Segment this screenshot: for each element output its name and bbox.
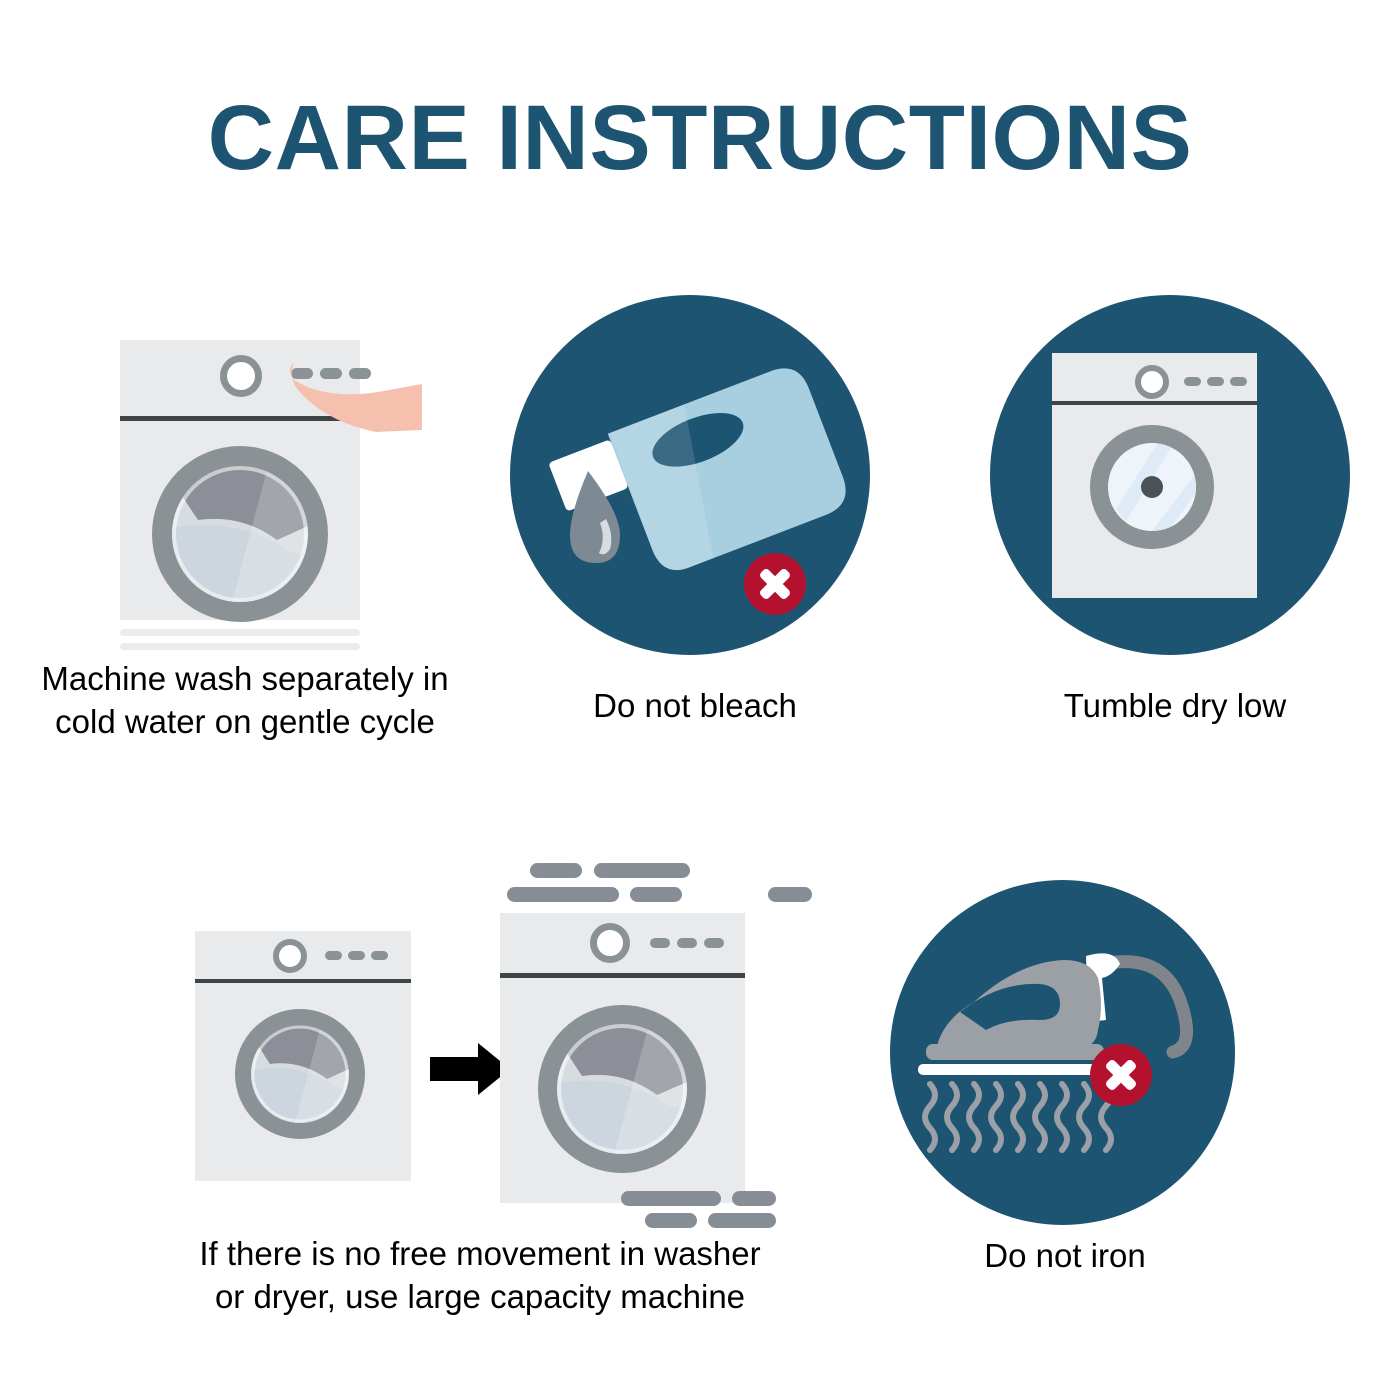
- small-washer-button-1: [325, 951, 342, 960]
- small-washer-panel-divider: [195, 979, 411, 983]
- prohibition-badge-icon: [1090, 1044, 1152, 1106]
- small-washer-door-glass: [251, 1025, 349, 1123]
- small-washer-button-2: [348, 951, 365, 960]
- care-instructions-infographic: CARE INSTRUCTIONS: [0, 0, 1400, 1400]
- large-washer-knob-icon: [590, 923, 630, 963]
- laundry-shapes-icon: [172, 466, 308, 602]
- motion-dash-top-3: [507, 887, 619, 902]
- motion-dash-top-1: [530, 863, 582, 878]
- small-washer-button-3: [371, 951, 388, 960]
- washer-base-line-2: [120, 643, 360, 650]
- laundry-shapes-icon: [557, 1024, 687, 1154]
- caption-large-capacity: If there is no free movement in washer o…: [70, 1233, 890, 1319]
- caption-line: or dryer, use large capacity machine: [70, 1276, 890, 1319]
- dryer-door-glass: [1108, 443, 1196, 531]
- small-washer-to-large-washer-icon: [100, 855, 860, 1225]
- dryer-button-1: [1184, 377, 1201, 386]
- caption-line: If there is no free movement in washer: [70, 1233, 890, 1276]
- washing-machine-with-hand-icon: [0, 300, 490, 650]
- motion-dash-top-4: [630, 887, 682, 902]
- large-washer-button-1: [650, 938, 670, 948]
- large-washer: [500, 913, 745, 1203]
- large-washer-button-3: [704, 938, 724, 948]
- large-washer-button-2: [677, 938, 697, 948]
- motion-dash-top-5: [768, 887, 812, 902]
- dryer-glass-shine-icon: [1108, 443, 1196, 531]
- motion-dash-bottom-3: [645, 1213, 697, 1228]
- large-washer-door-glass: [557, 1024, 687, 1154]
- tumble-dryer-icon: [990, 295, 1350, 655]
- washer-knob-icon: [220, 355, 262, 397]
- dryer-knob-icon: [1135, 365, 1169, 399]
- steam-iron-icon: [890, 880, 1235, 1225]
- caption-line: Machine wash separately in: [0, 658, 490, 701]
- motion-dash-bottom-1: [621, 1191, 721, 1206]
- caption-do-not-bleach: Do not bleach: [505, 685, 885, 728]
- caption-tumble-dry: Tumble dry low: [985, 685, 1365, 728]
- instruction-card-do-not-iron: Do not iron: [885, 880, 1265, 1300]
- caption-line: Do not iron: [885, 1235, 1245, 1278]
- small-washer-knob-icon: [273, 939, 307, 973]
- bleach-bottle-icon: [510, 295, 870, 655]
- motion-dash-top-2: [594, 863, 690, 878]
- instruction-card-tumble-dry: Tumble dry low: [985, 295, 1365, 735]
- instruction-card-large-capacity: If there is no free movement in washer o…: [100, 855, 860, 1315]
- instruction-card-do-not-bleach: Do not bleach: [505, 295, 885, 735]
- caption-machine-wash: Machine wash separately in cold water on…: [0, 658, 490, 744]
- right-arrow-icon: [430, 1043, 510, 1095]
- caption-do-not-iron: Do not iron: [885, 1235, 1245, 1278]
- pointing-hand-icon: [280, 356, 426, 438]
- motion-dash-bottom-4: [708, 1213, 776, 1228]
- washer-base-line-1: [120, 629, 360, 636]
- dryer-button-2: [1207, 377, 1224, 386]
- caption-line: Tumble dry low: [985, 685, 1365, 728]
- dryer-panel-divider: [1052, 401, 1257, 405]
- prohibition-badge-icon: [744, 553, 806, 615]
- caption-line: Do not bleach: [505, 685, 885, 728]
- large-washer-panel-divider: [500, 973, 745, 978]
- laundry-shapes-icon: [251, 1025, 349, 1123]
- small-washer: [195, 931, 411, 1181]
- page-title: CARE INSTRUCTIONS: [0, 92, 1400, 184]
- washer-door-glass: [172, 466, 308, 602]
- instruction-card-machine-wash: Machine wash separately in cold water on…: [0, 300, 490, 760]
- caption-line: cold water on gentle cycle: [0, 701, 490, 744]
- dryer-button-3: [1230, 377, 1247, 386]
- steam-squiggle-icon: [925, 1084, 1111, 1150]
- motion-dash-bottom-2: [732, 1191, 776, 1206]
